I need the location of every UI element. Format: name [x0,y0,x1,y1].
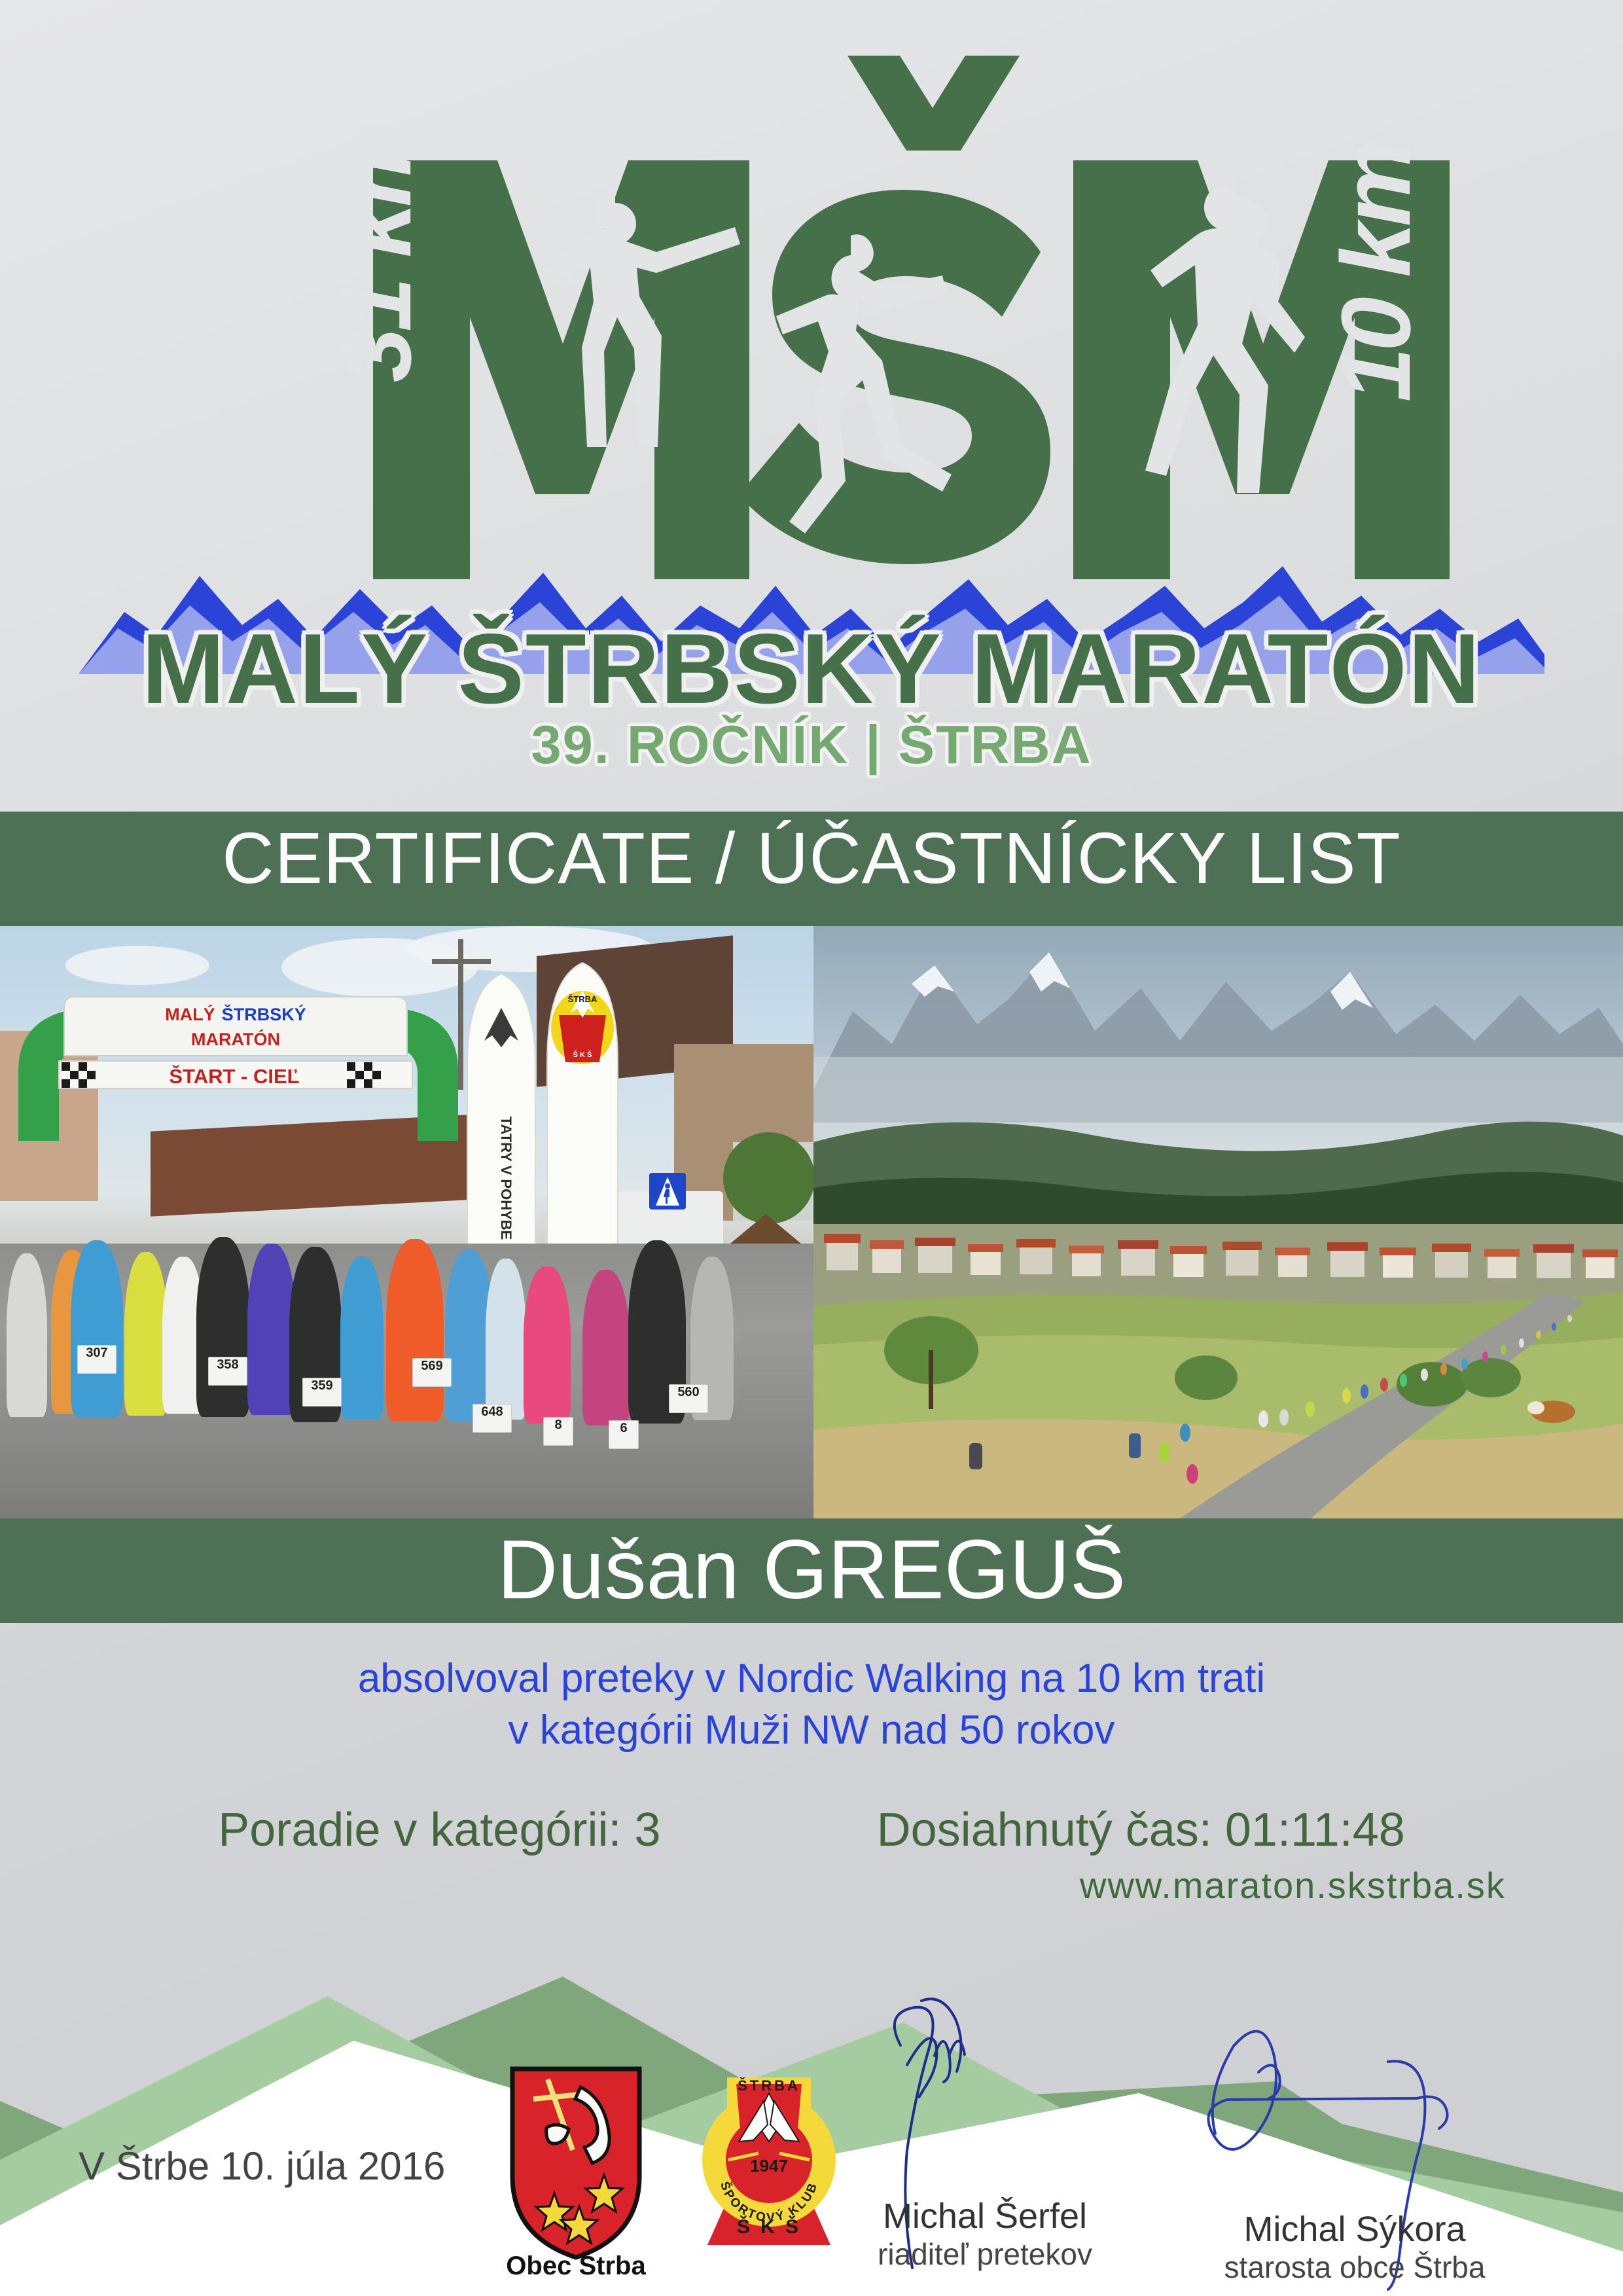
svg-text:ŠTART - CIEĽ: ŠTART - CIEĽ [169,1064,299,1088]
runner [71,1240,123,1417]
runner [486,1259,526,1420]
pedestrian-crossing-sign [648,1172,687,1211]
bib-number: 307 [77,1345,116,1374]
signature-name: Michal Sýkora [1191,2209,1518,2250]
runner [247,1244,296,1415]
place-and-date: V Štrbe 10. júla 2016 [79,2144,445,2189]
crest-top-text: ŠTRBA [738,2077,800,2094]
bib-number: 358 [208,1357,247,1386]
bib-number: 560 [669,1384,708,1413]
spectator [1129,1433,1141,1458]
runner-dot [1461,1358,1468,1369]
photo-strip: MALÝŠTRBSKÝ MARATÓN ŠTART - CIEĽ [0,926,1623,1518]
obec-strba-coat-of-arms [507,2065,645,2261]
runner-dot [1180,1424,1190,1442]
runner-dot [1342,1388,1351,1403]
runner-dot [1306,1401,1315,1417]
bib-number: 359 [302,1378,342,1407]
description-line-1: absolvoval preteky v Nordic Walking na 1… [0,1653,1623,1704]
runner-dot [1421,1369,1428,1381]
runner [124,1252,168,1416]
results-row: Poradie v kategórii: 3 Dosiahnutý čas: 0… [0,1803,1623,1857]
rank-result: Poradie v kategórii: 3 [218,1803,660,1857]
bib-number: 648 [473,1404,512,1433]
runner-dot [1380,1378,1388,1391]
runner [582,1270,630,1426]
event-logo-block: 31 km 10 km MALÝ ŠTRBSKÝ MARATÓN 39. ROČ… [0,0,1623,795]
runner-dot [1186,1464,1198,1484]
runner [7,1253,47,1417]
signature-block-mayor: Michal Sýkora starosta obce Štrba [1191,2209,1518,2285]
signature-block-director: Michal Šerfel riaditeľ pretekov [834,2196,1135,2272]
signature-role: riaditeľ pretekov [834,2236,1135,2272]
runner [196,1237,250,1417]
sks-club-crest: ŠTRBA 1947 ŠPORTOVÝ KLUB Š K Š [690,2062,847,2258]
rank-value: 3 [635,1804,661,1856]
runner-dot [1400,1374,1407,1387]
bib-number: 6 [609,1420,639,1449]
runner [386,1239,444,1421]
start-line-photo: MALÝŠTRBSKÝ MARATÓN ŠTART - CIEĽ [0,926,813,1518]
time-result: Dosiahnutý čas: 01:11:48 [877,1803,1405,1857]
rank-label: Poradie v kategórii: [218,1804,621,1856]
svg-text:Š K Š: Š K Š [573,1050,592,1059]
certificate-page: 31 km 10 km MALÝ ŠTRBSKÝ MARATÓN 39. ROČ… [0,0,1623,2296]
event-subtitle: 39. ROČNÍK | ŠTRBA [0,713,1623,776]
runner-dot [1552,1323,1556,1331]
runner-dot [1501,1345,1507,1355]
runner-dot [1159,1443,1170,1463]
runner-dot [1567,1315,1572,1322]
svg-text:ŠTRBA: ŠTRBA [568,994,597,1004]
certificate-title: CERTIFICATE / ÚČASTNÍCKY LIST [0,817,1623,900]
municipality-crest-label: Obec Štrba [488,2251,664,2281]
description-line-2: v kategórii Muži NW nad 50 rokov [0,1704,1623,1756]
svg-text:MARATÓN: MARATÓN [191,1029,280,1049]
runner-dot [1482,1352,1488,1362]
runner-dot [1279,1409,1289,1426]
time-label: Dosiahnutý čas: [877,1804,1212,1856]
distance-right-label: 10 km [1319,143,1433,402]
runner-dot [1361,1384,1368,1399]
start-arch: MALÝŠTRBSKÝ MARATÓN ŠTART - CIEĽ [7,977,465,1141]
landscape-graphic [813,926,1623,1518]
participant-name: Dušan GREGUŠ [0,1522,1623,1618]
runner-dot [1440,1363,1447,1375]
course-landscape-photo [813,926,1623,1518]
runner [340,1257,383,1419]
runner-dot [1519,1338,1524,1348]
bib-number: 8 [543,1417,573,1446]
distance-left-label: 31 km [320,124,433,382]
bib-number: 569 [412,1358,452,1387]
time-value: 01:11:48 [1225,1804,1405,1856]
signature-name: Michal Šerfel [834,2196,1135,2236]
signature-role: starosta obce Štrba [1191,2250,1518,2285]
runner-dot [1536,1331,1541,1339]
event-title: MALÝ ŠTRBSKÝ MARATÓN [0,612,1623,726]
runner-dot [1258,1410,1268,1427]
svg-text:TATRY V POHYBE: TATRY V POHYBE [498,1117,514,1240]
svg-text:MALÝŠTRBSKÝ: MALÝŠTRBSKÝ [165,1004,306,1024]
crest-abbrev: Š K Š [737,2215,801,2238]
runner [524,1266,571,1424]
participant-description: absolvoval preteky v Nordic Walking na 1… [0,1653,1623,1757]
crest-year: 1947 [750,2156,788,2176]
spectator [969,1443,982,1469]
